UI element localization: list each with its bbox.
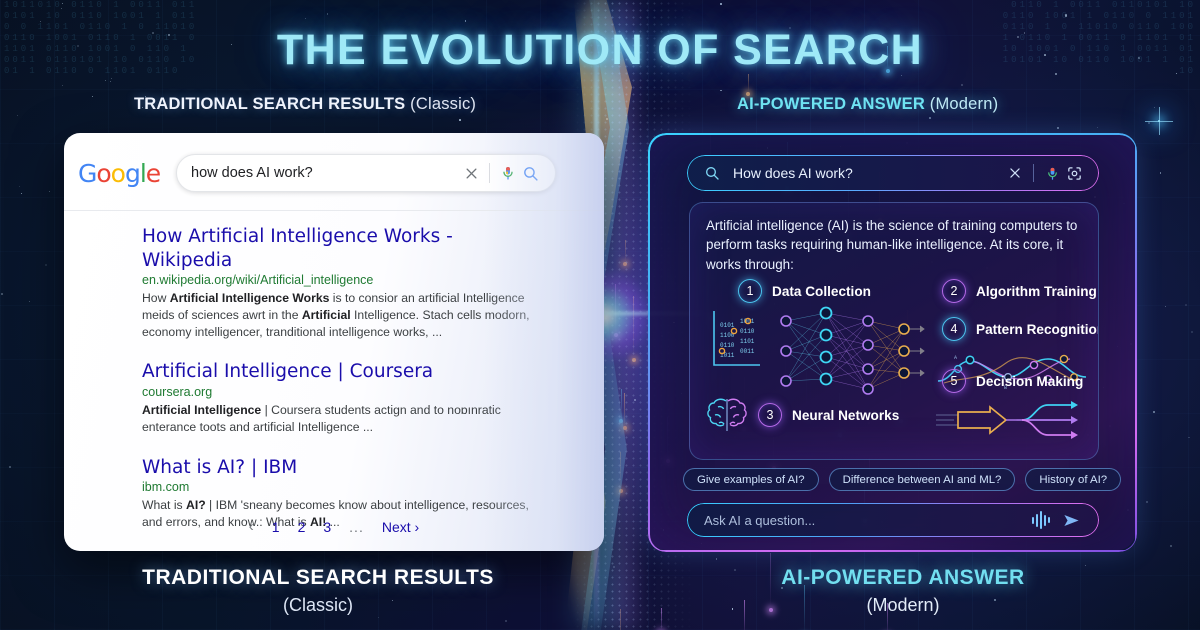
lens-icon[interactable]	[1063, 162, 1085, 184]
step-number: 4	[942, 317, 966, 341]
lens-flare-icon	[1158, 120, 1160, 122]
pagination-ellipsis: ...	[349, 519, 364, 535]
google-logo: Google	[78, 159, 160, 188]
step-neural-networks: 3 Neural Networks	[758, 403, 899, 427]
svg-text:0101: 0101	[720, 322, 735, 329]
google-results-list: How Artificial Intelligence Works - Wiki…	[64, 211, 604, 531]
divider	[1033, 164, 1034, 182]
result-title[interactable]: What is AI? | IBM	[142, 456, 546, 480]
page-number-3[interactable]: 3	[323, 519, 331, 535]
traditional-search-card: Google how does AI work?	[64, 133, 604, 551]
logo-letter: o	[111, 159, 125, 188]
logo-letter: g	[125, 159, 140, 188]
google-search-input[interactable]: how does AI work?	[176, 154, 556, 192]
close-icon[interactable]	[1004, 162, 1026, 184]
suggestion-chips: Give examples of AI? Difference between …	[683, 468, 1121, 491]
search-icon	[701, 162, 723, 184]
step-label: Algorithm Training	[976, 284, 1097, 299]
suggestion-chip[interactable]: Give examples of AI?	[683, 468, 819, 491]
step-label: Pattern Recognition	[976, 322, 1099, 337]
right-panel-header: AI-POWERED ANSWER (Modern)	[737, 95, 998, 114]
step-label: Decision Making	[976, 374, 1083, 389]
step-label: Neural Networks	[792, 408, 899, 423]
waveform-icon[interactable]	[1030, 509, 1052, 531]
right-footer-line2: (Modern)	[723, 595, 1083, 616]
right-panel-header-bold: AI-POWERED ANSWER	[737, 95, 925, 113]
suggestion-chip[interactable]: History of AI?	[1025, 468, 1121, 491]
left-panel-header: TRADITIONAL SEARCH RESULTS (Classic)	[134, 95, 476, 114]
step-pattern-recognition: 4 Pattern Recognition	[942, 317, 1099, 341]
ai-search-input[interactable]: How does AI work?	[687, 155, 1099, 191]
data-collection-icon: 0101110001101011 1001011011010011	[708, 307, 766, 378]
step-algorithm-training: 2 Algorithm Training	[942, 279, 1097, 303]
google-header: Google how does AI work?	[64, 133, 604, 211]
right-panel-header-paren: (Modern)	[930, 95, 999, 113]
page-number-1[interactable]: 1	[272, 519, 280, 535]
pagination: ‹ 1 2 3 ... Next ›	[64, 518, 604, 535]
ai-answer-panel: How does AI work? Artificial intelligenc…	[648, 133, 1136, 551]
left-panel-header-paren: (Classic)	[410, 95, 476, 113]
step-number: 5	[942, 369, 966, 393]
google-query-text: how does AI work?	[191, 165, 460, 181]
right-footer-line1: AI-POWERED ANSWER	[723, 566, 1083, 590]
prev-page-arrow[interactable]: ‹	[249, 518, 254, 535]
divider	[489, 163, 490, 183]
neural-network-diagram	[768, 299, 928, 408]
left-footer-caption: TRADITIONAL SEARCH RESULTS (Classic)	[138, 566, 498, 616]
suggestion-chip[interactable]: Difference between AI and ML?	[829, 468, 1016, 491]
page-title: THE EVOLUTION OF SEARCH	[0, 26, 1200, 75]
right-footer-caption: AI-POWERED ANSWER (Modern)	[723, 566, 1083, 616]
result-snippet: How Artificial Intelligence Works is to …	[142, 290, 546, 340]
result-url: coursera.org	[142, 385, 546, 399]
step-data-collection: 1 Data Collection	[738, 279, 871, 303]
result-title[interactable]: How Artificial Intelligence Works - Wiki…	[142, 225, 546, 272]
result-title[interactable]: Artificial Intelligence | Coursera	[142, 360, 546, 384]
ai-answer-text: Artificial intelligence (AI) is the scie…	[706, 216, 1098, 274]
search-icon[interactable]	[519, 162, 541, 184]
left-footer-line1: TRADITIONAL SEARCH RESULTS	[138, 566, 498, 590]
close-icon[interactable]	[460, 162, 482, 184]
left-footer-line2: (Classic)	[138, 595, 498, 616]
ai-ask-placeholder: Ask AI a question...	[704, 513, 1030, 528]
step-label: Data Collection	[772, 284, 871, 299]
search-result-item[interactable]: Artificial Intelligence | Coursera cours…	[142, 360, 546, 435]
left-panel-header-bold: TRADITIONAL SEARCH RESULTS	[134, 95, 405, 113]
result-snippet: Artificial Intelligence | Coursera stude…	[142, 402, 546, 435]
search-result-item[interactable]: How Artificial Intelligence Works - Wiki…	[142, 225, 546, 340]
logo-letter: G	[78, 159, 96, 188]
microphone-icon[interactable]	[1041, 162, 1063, 184]
svg-text:0110: 0110	[740, 328, 755, 335]
svg-text:0011: 0011	[740, 348, 755, 355]
ai-answer-box: Artificial intelligence (AI) is the scie…	[689, 202, 1099, 460]
svg-text:1101: 1101	[740, 338, 755, 345]
decision-arrows-icon	[936, 399, 1088, 446]
result-url: en.wikipedia.org/wiki/Artificial_intelli…	[142, 273, 546, 287]
next-label: Next	[382, 519, 411, 535]
svg-text:A: A	[954, 355, 957, 361]
brain-icon	[704, 395, 750, 442]
microphone-icon[interactable]	[497, 162, 519, 184]
next-arrow-icon: ›	[415, 519, 420, 535]
step-number: 3	[758, 403, 782, 427]
step-number: 2	[942, 279, 966, 303]
send-icon[interactable]	[1060, 509, 1082, 531]
ai-query-text: How does AI work?	[733, 165, 1004, 181]
next-page-button[interactable]: Next ›	[382, 519, 419, 535]
page-number-2[interactable]: 2	[298, 519, 306, 535]
logo-letter: o	[96, 159, 110, 188]
result-url: ibm.com	[142, 480, 546, 494]
step-decision-making: 5 Decision Making	[942, 369, 1083, 393]
ai-ask-input[interactable]: Ask AI a question...	[687, 503, 1099, 537]
logo-letter: e	[146, 159, 160, 188]
step-number: 1	[738, 279, 762, 303]
